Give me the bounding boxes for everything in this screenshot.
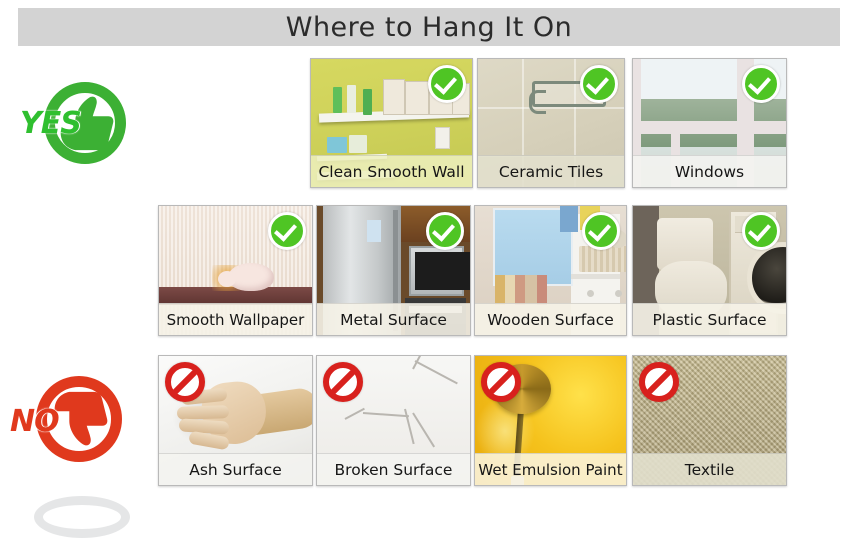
- check-circle-icon: [580, 65, 618, 103]
- card-label: Clean Smooth Wall: [311, 155, 472, 187]
- surface-card-wet-emulsion-paint[interactable]: Wet Emulsion Paint: [474, 355, 627, 486]
- check-circle-icon: [742, 212, 780, 250]
- card-label: Textile: [633, 453, 786, 485]
- next-section-partial-icon: [34, 496, 130, 538]
- card-label: Windows: [633, 155, 786, 187]
- surface-card-clean-smooth-wall[interactable]: Clean Smooth Wall: [310, 58, 473, 188]
- surface-card-textile[interactable]: Textile: [632, 355, 787, 486]
- yes-label: YES: [20, 106, 81, 141]
- card-label: Smooth Wallpaper: [159, 303, 312, 335]
- no-verdict-icon: NO: [6, 372, 134, 472]
- surface-card-windows[interactable]: Windows: [632, 58, 787, 188]
- surface-card-metal-surface[interactable]: Metal Surface: [316, 205, 471, 336]
- prohibition-icon: [323, 362, 363, 402]
- prohibition-icon: [639, 362, 679, 402]
- card-label: Broken Surface: [317, 453, 470, 485]
- check-circle-icon: [742, 65, 780, 103]
- check-circle-icon: [428, 65, 466, 103]
- prohibition-icon: [165, 362, 205, 402]
- prohibition-icon: [481, 362, 521, 402]
- surface-card-broken-surface[interactable]: Broken Surface: [316, 355, 471, 486]
- check-circle-icon: [268, 212, 306, 250]
- card-label: Plastic Surface: [633, 303, 786, 335]
- card-label: Wooden Surface: [475, 303, 626, 335]
- surface-card-smooth-wallpaper[interactable]: Smooth Wallpaper: [158, 205, 313, 336]
- page-header: Where to Hang It On: [18, 8, 840, 46]
- surface-card-ceramic-tiles[interactable]: Ceramic Tiles: [477, 58, 625, 188]
- no-label: NO: [10, 404, 59, 439]
- card-label: Wet Emulsion Paint: [475, 453, 626, 485]
- yes-verdict-icon: YES: [12, 78, 132, 170]
- card-label: Ceramic Tiles: [478, 155, 624, 187]
- check-circle-icon: [426, 212, 464, 250]
- check-circle-icon: [582, 212, 620, 250]
- surface-card-ash-surface[interactable]: Ash Surface: [158, 355, 313, 486]
- card-label: Ash Surface: [159, 453, 312, 485]
- card-label: Metal Surface: [317, 303, 470, 335]
- surface-card-wooden-surface[interactable]: Wooden Surface: [474, 205, 627, 336]
- page-title: Where to Hang It On: [286, 12, 573, 43]
- surface-card-plastic-surface[interactable]: Plastic Surface: [632, 205, 787, 336]
